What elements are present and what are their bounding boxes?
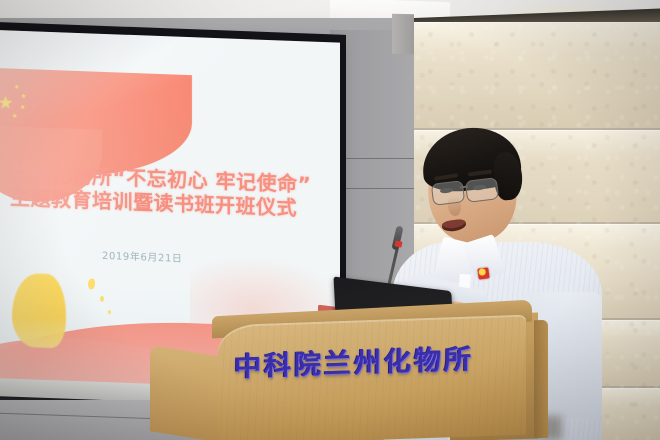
slide-date: 2019年6月21日 xyxy=(102,247,183,265)
flag-star-small: ★ xyxy=(14,85,19,91)
wall-pad-panel xyxy=(414,22,660,130)
eyeglasses-lens-right xyxy=(465,177,499,203)
wall-column xyxy=(392,14,414,55)
party-emblem-badge-icon xyxy=(477,267,489,279)
podium-right-edge xyxy=(534,320,548,438)
podium: 中科院兰州化物所 xyxy=(150,296,550,440)
flag-star-small: ★ xyxy=(20,105,25,111)
flag-star-small: ★ xyxy=(12,114,17,120)
flag-star-large: ★ xyxy=(0,94,13,112)
spark-graphic xyxy=(88,278,95,289)
torch-flame-graphic xyxy=(12,273,66,349)
conference-speech-photo: ★ ★ ★ ★ ★ 兰州化物所“不忘初心 牢记使命” 主题教育培训暨读书班开班仪… xyxy=(0,0,660,440)
flag-star-small: ★ xyxy=(21,94,26,100)
spark-graphic xyxy=(108,310,111,314)
spark-graphic xyxy=(100,296,104,302)
slide-title: 兰州化物所“不忘初心 牢记使命” 主题教育培训暨读书班开班仪式 xyxy=(10,163,330,222)
